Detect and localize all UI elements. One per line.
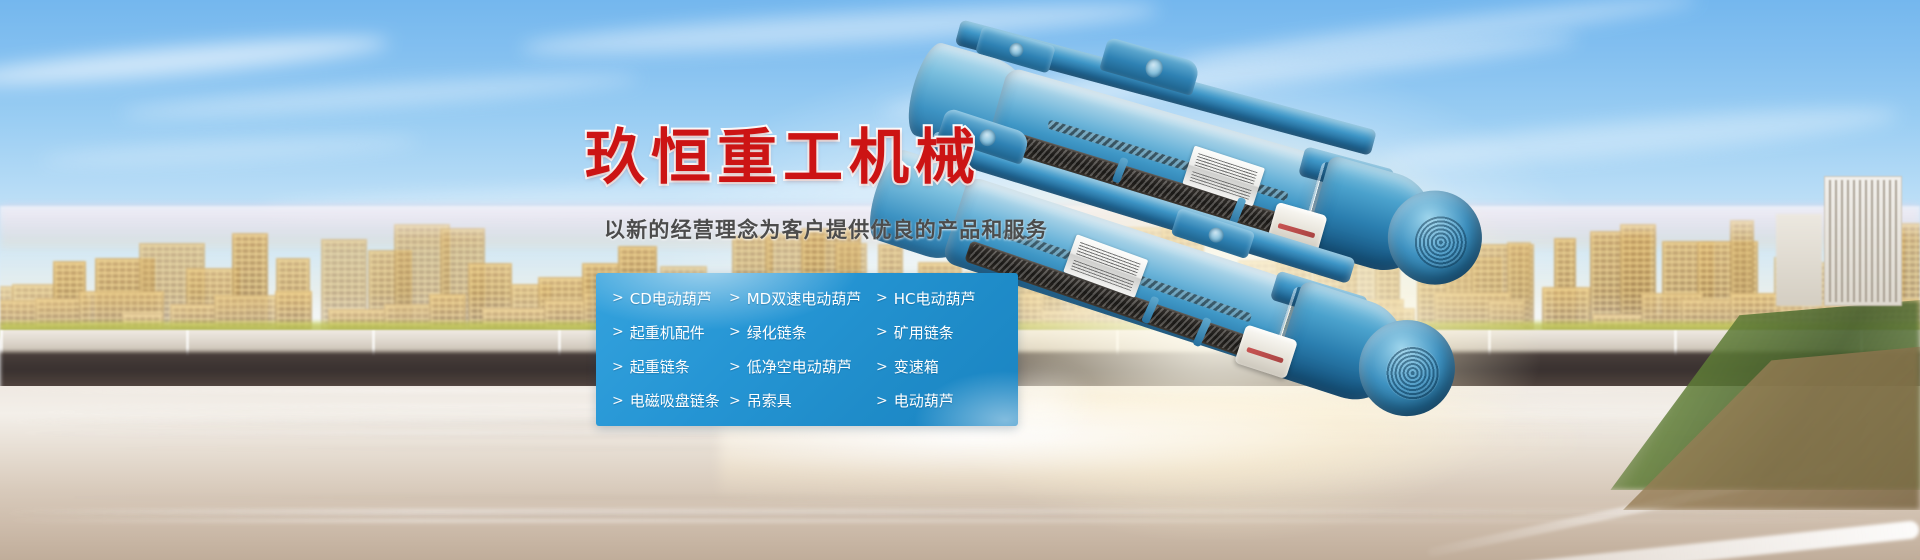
skyline-building [139, 243, 205, 330]
page-subtitle: 以新的经营理念为客户提供优良的产品和服务 [604, 214, 1048, 244]
road-motion-streak [0, 513, 1920, 516]
product-link-7[interactable]: >起重链条 [612, 356, 729, 377]
cloud-wisp [40, 132, 420, 170]
chevron-right-icon: > [612, 394, 624, 408]
skyline-building [394, 224, 450, 330]
skyline-building [186, 268, 240, 330]
product-category-box: >CD电动葫芦>MD双速电动葫芦>HC电动葫芦>起重机配件>绿化链条>矿用链条>… [596, 273, 1018, 426]
skyline-building [53, 261, 86, 330]
skyline-building [321, 239, 367, 330]
skyline-building [276, 258, 310, 330]
product-link-1[interactable]: >CD电动葫芦 [612, 288, 729, 309]
skyline-building [468, 263, 512, 330]
chevron-right-icon: > [729, 394, 741, 408]
skyline-building [1507, 242, 1531, 330]
skyline-building [440, 228, 485, 330]
hero-banner: 玖恒重工机械 以新的经营理念为客户提供优良的产品和服务 >CD电动葫芦>MD双速… [0, 0, 1920, 560]
product-link-8[interactable]: >低净空电动葫芦 [729, 356, 876, 377]
skyline-building [232, 233, 268, 330]
product-link-3[interactable]: >HC电动葫芦 [876, 288, 1018, 309]
skyline-building [95, 258, 155, 330]
product-link-2[interactable]: >MD双速电动葫芦 [729, 288, 876, 309]
chevron-right-icon: > [729, 291, 741, 305]
product-link-label: MD双速电动葫芦 [747, 288, 862, 309]
product-link-label: 电动葫芦 [894, 390, 954, 411]
product-link-10[interactable]: >电磁吸盘链条 [612, 390, 729, 411]
product-link-label: 变速箱 [894, 356, 939, 377]
skyline-building [368, 250, 412, 330]
chevron-right-icon: > [876, 325, 888, 339]
chevron-right-icon: > [876, 291, 888, 305]
product-link-5[interactable]: >绿化链条 [729, 322, 876, 343]
product-link-label: 起重机配件 [630, 322, 705, 343]
chevron-right-icon: > [612, 360, 624, 374]
product-link-9[interactable]: >变速箱 [876, 356, 1018, 377]
chevron-right-icon: > [729, 360, 741, 374]
cloud-wisp [0, 29, 390, 92]
product-link-label: HC电动葫芦 [894, 288, 976, 309]
skyline-building [1620, 224, 1656, 330]
chevron-right-icon: > [612, 325, 624, 339]
product-link-label: 低净空电动葫芦 [747, 356, 852, 377]
page-title: 玖恒重工机械 [585, 128, 981, 188]
product-link-4[interactable]: >起重机配件 [612, 322, 729, 343]
chevron-right-icon: > [876, 360, 888, 374]
product-category-grid: >CD电动葫芦>MD双速电动葫芦>HC电动葫芦>起重机配件>绿化链条>矿用链条>… [596, 273, 1018, 426]
cloud-wisp [120, 68, 640, 124]
product-link-6[interactable]: >矿用链条 [876, 322, 1018, 343]
product-link-label: 绿化链条 [747, 322, 807, 343]
product-link-label: 矿用链条 [894, 322, 954, 343]
background-tower [1776, 214, 1822, 306]
product-link-11[interactable]: >吊索具 [729, 390, 876, 411]
chevron-right-icon: > [612, 291, 624, 305]
chevron-right-icon: > [729, 325, 741, 339]
road-motion-streak [0, 519, 1920, 522]
skyline-building [1554, 238, 1576, 330]
product-link-label: 电磁吸盘链条 [630, 390, 720, 411]
background-tower [1824, 176, 1902, 306]
product-link-12[interactable]: >电动葫芦 [876, 390, 1018, 411]
skyline-building [1730, 220, 1754, 330]
chevron-right-icon: > [876, 394, 888, 408]
skyline-building [1590, 231, 1651, 330]
product-link-label: CD电动葫芦 [630, 288, 712, 309]
product-link-label: 起重链条 [630, 356, 690, 377]
product-link-label: 吊索具 [747, 390, 792, 411]
skyline-building [1662, 241, 1714, 330]
